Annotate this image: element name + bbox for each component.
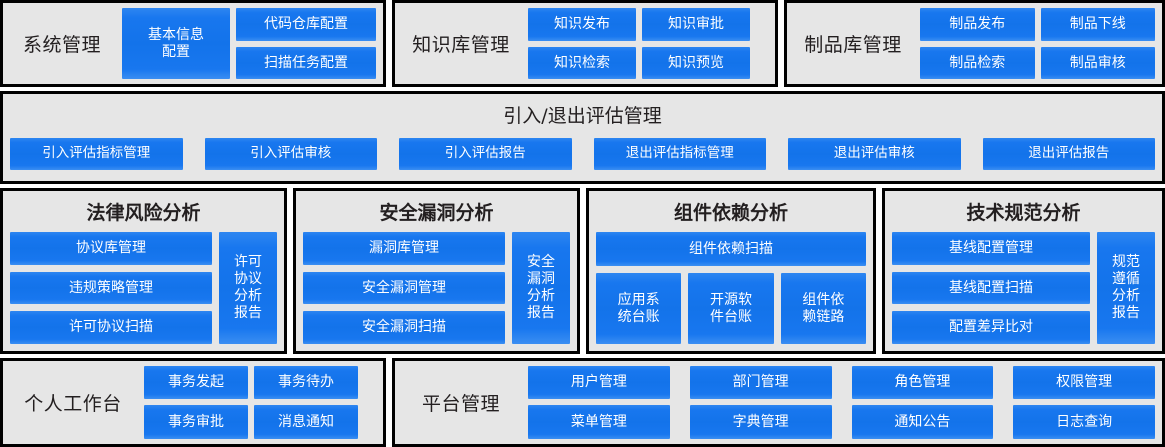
button-role-management[interactable]: 角色管理 <box>852 366 994 400</box>
body-legal-risk-analysis: 协议库管理 违规策略管理 许可协议扫描 许可 协议 分析 报告 <box>10 232 277 343</box>
button-component-dependency-chain[interactable]: 组件依 赖链路 <box>781 273 866 343</box>
row-analysis-modules: 法律风险分析 协议库管理 违规策略管理 许可协议扫描 许可 协议 分析 报告 安… <box>0 188 1165 353</box>
top-row-component-dependency: 组件依赖扫描 <box>596 232 866 266</box>
button-security-vulnerability-management[interactable]: 安全漏洞管理 <box>303 272 505 305</box>
button-knowledge-search[interactable]: 知识检索 <box>528 47 636 80</box>
button-entry-eval-report[interactable]: 引入评估报告 <box>399 138 572 170</box>
body-technical-specification-analysis: 基线配置管理 基线配置扫描 配置差异比对 规范 遵循 分析 报告 <box>892 232 1155 343</box>
panel-knowledge-base-management: 知识库管理 知识发布 知识审批 知识检索 知识预览 <box>392 0 778 87</box>
panel-component-dependency-analysis: 组件依赖分析 组件依赖扫描 应用系 统台账 开源软 件台账 组件依 赖链路 <box>586 188 876 353</box>
row-bottom-modules: 个人工作台 事务发起 事务待办 事务审批 消息通知 平台管理 用户管理 部门管理… <box>0 358 1165 447</box>
button-application-system-ledger[interactable]: 应用系 统台账 <box>596 273 681 343</box>
button-knowledge-approval[interactable]: 知识审批 <box>642 8 750 41</box>
button-trio-component-dependency: 应用系 统台账 开源软 件台账 组件依 赖链路 <box>596 273 866 343</box>
panel-title-security-vulnerability-analysis: 安全漏洞分析 <box>303 195 570 232</box>
panel-title-technical-specification-analysis: 技术规范分析 <box>892 195 1155 232</box>
button-task-approval[interactable]: 事务审批 <box>144 405 248 439</box>
button-task-todo[interactable]: 事务待办 <box>254 366 358 400</box>
button-license-repo-management[interactable]: 协议库管理 <box>10 232 212 264</box>
button-grid-personal-workbench: 事务发起 事务待办 事务审批 消息通知 <box>144 366 376 439</box>
panel-title-knowledge-base-management: 知识库管理 <box>402 30 520 57</box>
button-baseline-config-scan[interactable]: 基线配置扫描 <box>892 272 1090 305</box>
panel-security-vulnerability-analysis: 安全漏洞分析 漏洞库管理 安全漏洞管理 安全漏洞扫描 安全 漏洞 分析 报告 <box>293 188 580 353</box>
button-entry-eval-indicator-management[interactable]: 引入评估指标管理 <box>10 138 183 170</box>
button-log-query[interactable]: 日志查询 <box>1013 405 1155 439</box>
button-knowledge-preview[interactable]: 知识预览 <box>642 47 750 80</box>
button-artifact-publish[interactable]: 制品发布 <box>920 8 1035 41</box>
panel-title-platform-management: 平台管理 <box>402 389 520 416</box>
button-license-agreement-scan[interactable]: 许可协议扫描 <box>10 311 212 344</box>
button-security-vulnerability-scan[interactable]: 安全漏洞扫描 <box>303 311 505 344</box>
panel-personal-workbench: 个人工作台 事务发起 事务待办 事务审批 消息通知 <box>0 358 386 447</box>
button-stack-legal-risk: 协议库管理 违规策略管理 许可协议扫描 <box>10 232 212 343</box>
button-grid-artifact-repository: 制品发布 制品下线 制品检索 制品审核 <box>920 8 1155 79</box>
panel-artifact-repository-management: 制品库管理 制品发布 制品下线 制品检索 制品审核 <box>784 0 1165 87</box>
button-violation-policy-management[interactable]: 违规策略管理 <box>10 272 212 305</box>
button-baseline-config-management[interactable]: 基线配置管理 <box>892 232 1090 264</box>
button-exit-eval-indicator-management[interactable]: 退出评估指标管理 <box>594 138 767 170</box>
button-grid-platform-management: 用户管理 部门管理 角色管理 权限管理 菜单管理 字典管理 通知公告 日志查询 <box>528 366 1155 439</box>
button-menu-management[interactable]: 菜单管理 <box>528 405 670 439</box>
button-license-analysis-report[interactable]: 许可 协议 分析 报告 <box>219 232 277 343</box>
panel-title-system-management: 系统管理 <box>10 30 114 57</box>
panel-title-personal-workbench: 个人工作台 <box>10 389 136 416</box>
button-grid-knowledge-base: 知识发布 知识审批 知识检索 知识预览 <box>528 8 768 79</box>
button-artifact-offline[interactable]: 制品下线 <box>1041 8 1156 41</box>
button-stack-security-vulnerability: 漏洞库管理 安全漏洞管理 安全漏洞扫描 <box>303 232 505 343</box>
button-artifact-audit[interactable]: 制品审核 <box>1041 47 1156 80</box>
panel-system-management: 系统管理 基本信息 配置 代码仓库配置 扫描任务配置 <box>0 0 386 87</box>
button-specification-compliance-report[interactable]: 规范 遵循 分析 报告 <box>1097 232 1155 343</box>
panel-title-entry-exit-evaluation: 引入/退出评估管理 <box>10 98 1155 134</box>
panel-title-artifact-repository-management: 制品库管理 <box>794 30 912 57</box>
button-department-management[interactable]: 部门管理 <box>690 366 832 400</box>
button-knowledge-publish[interactable]: 知识发布 <box>528 8 636 41</box>
button-message-notification[interactable]: 消息通知 <box>254 405 358 439</box>
button-grid-system-management: 基本信息 配置 代码仓库配置 扫描任务配置 <box>122 8 376 79</box>
button-config-difference-comparison[interactable]: 配置差异比对 <box>892 311 1090 344</box>
panel-legal-risk-analysis: 法律风险分析 协议库管理 违规策略管理 许可协议扫描 许可 协议 分析 报告 <box>0 188 287 353</box>
button-user-management[interactable]: 用户管理 <box>528 366 670 400</box>
button-task-initiate[interactable]: 事务发起 <box>144 366 248 400</box>
button-artifact-search[interactable]: 制品检索 <box>920 47 1035 80</box>
panel-title-legal-risk-analysis: 法律风险分析 <box>10 195 277 232</box>
body-component-dependency-analysis: 组件依赖扫描 应用系 统台账 开源软 件台账 组件依 赖链路 <box>596 232 866 343</box>
button-scan-task-config[interactable]: 扫描任务配置 <box>236 47 376 80</box>
functional-architecture-diagram: 系统管理 基本信息 配置 代码仓库配置 扫描任务配置 知识库管理 知识发布 知识… <box>0 0 1165 447</box>
row-top-modules: 系统管理 基本信息 配置 代码仓库配置 扫描任务配置 知识库管理 知识发布 知识… <box>0 0 1165 87</box>
button-component-dependency-scan[interactable]: 组件依赖扫描 <box>596 232 866 266</box>
button-entry-eval-review[interactable]: 引入评估审核 <box>205 138 378 170</box>
button-vulnerability-repo-management[interactable]: 漏洞库管理 <box>303 232 505 264</box>
panel-platform-management: 平台管理 用户管理 部门管理 角色管理 权限管理 菜单管理 字典管理 通知公告 … <box>392 358 1165 447</box>
button-security-analysis-report[interactable]: 安全 漏洞 分析 报告 <box>512 232 570 343</box>
row-evaluation-management: 引入/退出评估管理 引入评估指标管理 引入评估审核 引入评估报告 退出评估指标管… <box>0 91 1165 184</box>
button-basic-info-config[interactable]: 基本信息 配置 <box>122 8 230 79</box>
button-exit-eval-report[interactable]: 退出评估报告 <box>983 138 1156 170</box>
button-grid-evaluation: 引入评估指标管理 引入评估审核 引入评估报告 退出评估指标管理 退出评估审核 退… <box>10 134 1155 174</box>
button-open-source-software-ledger[interactable]: 开源软 件台账 <box>688 273 773 343</box>
button-code-repo-config[interactable]: 代码仓库配置 <box>236 8 376 41</box>
body-security-vulnerability-analysis: 漏洞库管理 安全漏洞管理 安全漏洞扫描 安全 漏洞 分析 报告 <box>303 232 570 343</box>
button-dictionary-management[interactable]: 字典管理 <box>690 405 832 439</box>
button-exit-eval-review[interactable]: 退出评估审核 <box>788 138 961 170</box>
panel-technical-specification-analysis: 技术规范分析 基线配置管理 基线配置扫描 配置差异比对 规范 遵循 分析 报告 <box>882 188 1165 353</box>
button-stack-technical-specification: 基线配置管理 基线配置扫描 配置差异比对 <box>892 232 1090 343</box>
button-permission-management[interactable]: 权限管理 <box>1013 366 1155 400</box>
panel-entry-exit-evaluation-management: 引入/退出评估管理 引入评估指标管理 引入评估审核 引入评估报告 退出评估指标管… <box>0 91 1165 184</box>
panel-title-component-dependency-analysis: 组件依赖分析 <box>596 195 866 232</box>
button-notice-announcement[interactable]: 通知公告 <box>852 405 994 439</box>
